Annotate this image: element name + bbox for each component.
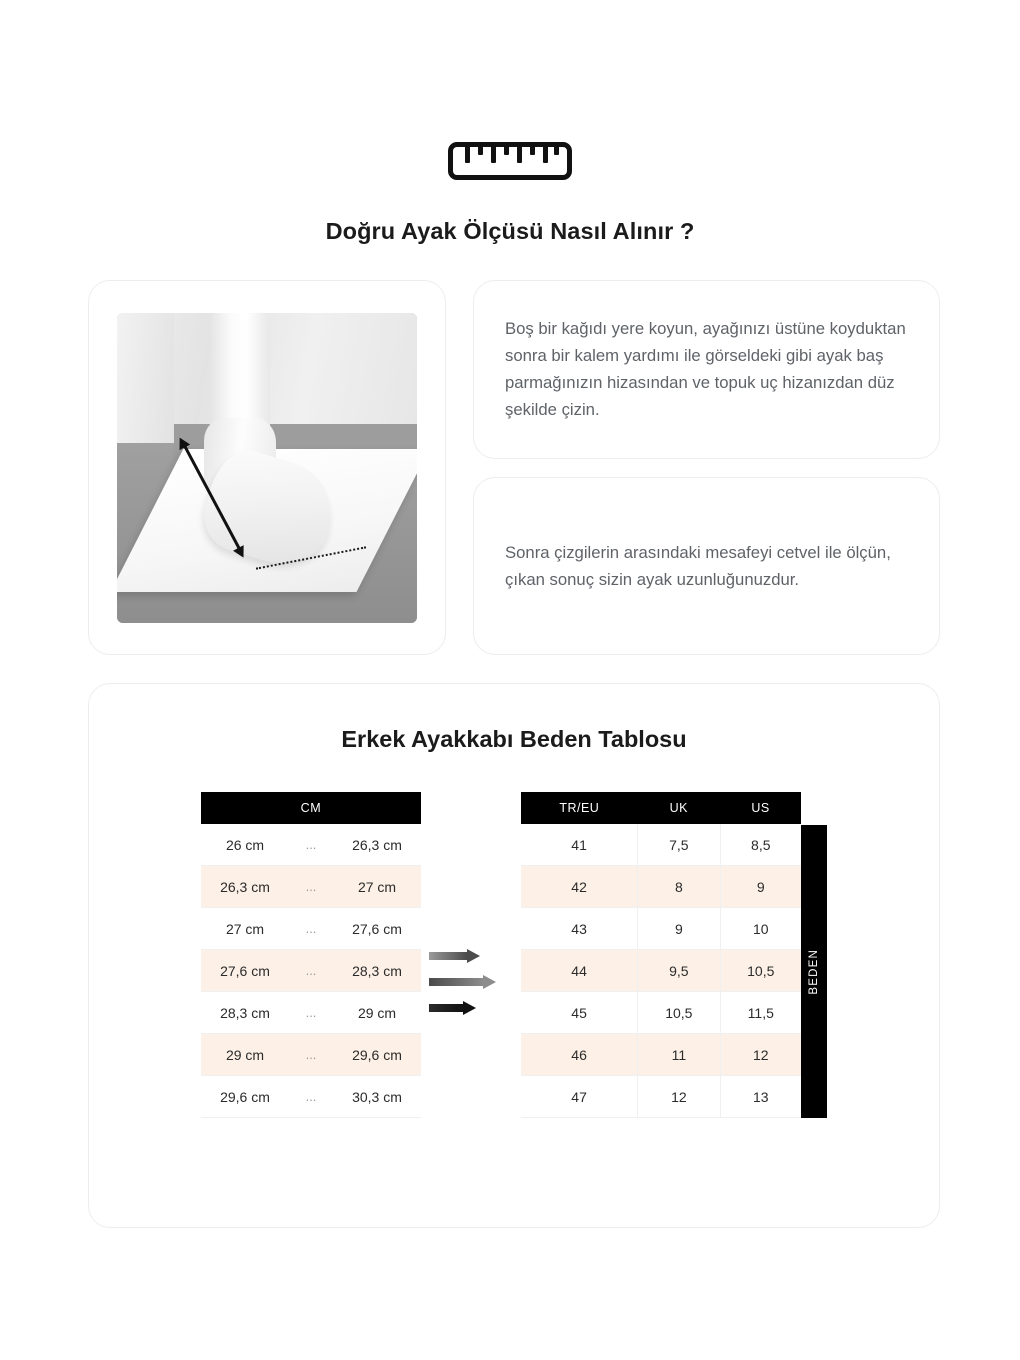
cm-separator: ... bbox=[289, 1034, 333, 1076]
cm-separator: ... bbox=[289, 866, 333, 908]
table-row: 28,3 cm ... 29 cm bbox=[201, 992, 421, 1034]
instruction-text-2: Sonra çizgilerin arasındaki mesafeyi cet… bbox=[505, 539, 911, 593]
beden-side-label-text: BEDEN bbox=[808, 949, 820, 995]
cm-to: 26,3 cm bbox=[333, 824, 421, 866]
cell-treu: 47 bbox=[521, 1076, 638, 1118]
cell-treu: 42 bbox=[521, 866, 638, 908]
cell-uk: 9,5 bbox=[638, 950, 720, 992]
cm-separator: ... bbox=[289, 908, 333, 950]
instruction-card-1: Boş bir kağıdı yere koyun, ayağınızı üst… bbox=[473, 280, 940, 459]
cell-treu: 46 bbox=[521, 1034, 638, 1076]
table-row: 29,6 cm ... 30,3 cm bbox=[201, 1076, 421, 1118]
cm-to: 29 cm bbox=[333, 992, 421, 1034]
cm-from: 29 cm bbox=[201, 1034, 289, 1076]
cell-us: 8,5 bbox=[720, 824, 801, 866]
cm-table: CM 26 cm ... 26,3 cm 26,3 cm ... 27 cm bbox=[201, 792, 421, 1118]
cm-from: 28,3 cm bbox=[201, 992, 289, 1034]
cm-separator: ... bbox=[289, 824, 333, 866]
cell-uk: 8 bbox=[638, 866, 720, 908]
page-title: Doğru Ayak Ölçüsü Nasıl Alınır ? bbox=[0, 218, 1020, 245]
cm-to: 29,6 cm bbox=[333, 1034, 421, 1076]
cell-us: 10,5 bbox=[720, 950, 801, 992]
instruction-text-1: Boş bir kağıdı yere koyun, ayağınızı üst… bbox=[505, 315, 911, 423]
size-col-us: US bbox=[720, 792, 801, 824]
foot-measure-photo-card bbox=[88, 280, 446, 655]
cm-from: 27,6 cm bbox=[201, 950, 289, 992]
instruction-card-2: Sonra çizgilerin arasındaki mesafeyi cet… bbox=[473, 477, 940, 656]
size-chart-card: Erkek Ayakkabı Beden Tablosu CM 26 cm ..… bbox=[88, 683, 940, 1228]
cell-us: 9 bbox=[720, 866, 801, 908]
table-row: 45 10,5 11,5 bbox=[521, 992, 801, 1034]
cm-table-header-row: CM bbox=[201, 792, 421, 824]
cell-uk: 11 bbox=[638, 1034, 720, 1076]
cm-separator: ... bbox=[289, 992, 333, 1034]
cell-treu: 45 bbox=[521, 992, 638, 1034]
table-row: 26 cm ... 26,3 cm bbox=[201, 824, 421, 866]
table-row: 26,3 cm ... 27 cm bbox=[201, 866, 421, 908]
instruction-text-column: Boş bir kağıdı yere koyun, ayağınızı üst… bbox=[473, 280, 940, 655]
cell-treu: 41 bbox=[521, 824, 638, 866]
foot-measure-photo bbox=[117, 313, 417, 623]
size-table-header-row: TR/EU UK US bbox=[521, 792, 801, 824]
table-row: 43 9 10 bbox=[521, 908, 801, 950]
table-row: 27,6 cm ... 28,3 cm bbox=[201, 950, 421, 992]
table-row: 47 12 13 bbox=[521, 1076, 801, 1118]
cm-to: 27 cm bbox=[333, 866, 421, 908]
cell-us: 12 bbox=[720, 1034, 801, 1076]
instructions-row: Boş bir kağıdı yere koyun, ayağınızı üst… bbox=[88, 280, 940, 655]
size-chart-title: Erkek Ayakkabı Beden Tablosu bbox=[89, 726, 939, 753]
cm-to: 28,3 cm bbox=[333, 950, 421, 992]
size-table: TR/EU UK US 41 7,5 8,5 42 8 bbox=[521, 792, 801, 1118]
cm-separator: ... bbox=[289, 950, 333, 992]
cm-to: 30,3 cm bbox=[333, 1076, 421, 1118]
table-row: 44 9,5 10,5 bbox=[521, 950, 801, 992]
cell-us: 11,5 bbox=[720, 992, 801, 1034]
cm-table-header-cell: CM bbox=[201, 792, 421, 824]
size-guide-page: Doğru Ayak Ölçüsü Nasıl Alınır ? Boş bir… bbox=[0, 0, 1020, 1360]
table-row: 27 cm ... 27,6 cm bbox=[201, 908, 421, 950]
cell-us: 10 bbox=[720, 908, 801, 950]
cell-uk: 9 bbox=[638, 908, 720, 950]
cell-uk: 12 bbox=[638, 1076, 720, 1118]
table-row: 46 11 12 bbox=[521, 1034, 801, 1076]
cell-treu: 43 bbox=[521, 908, 638, 950]
cm-from: 27 cm bbox=[201, 908, 289, 950]
ruler-icon-wrap bbox=[0, 142, 1020, 180]
cell-uk: 10,5 bbox=[638, 992, 720, 1034]
size-col-uk: UK bbox=[638, 792, 720, 824]
cm-from: 26 cm bbox=[201, 824, 289, 866]
table-row: 29 cm ... 29,6 cm bbox=[201, 1034, 421, 1076]
cell-uk: 7,5 bbox=[638, 824, 720, 866]
cm-separator: ... bbox=[289, 1076, 333, 1118]
cm-from: 26,3 cm bbox=[201, 866, 289, 908]
cm-to: 27,6 cm bbox=[333, 908, 421, 950]
size-table-wrap: TR/EU UK US 41 7,5 8,5 42 8 bbox=[521, 792, 827, 1118]
size-col-treu: TR/EU bbox=[521, 792, 638, 824]
table-row: 42 8 9 bbox=[521, 866, 801, 908]
size-tables-row: CM 26 cm ... 26,3 cm 26,3 cm ... 27 cm bbox=[89, 792, 939, 1118]
cm-from: 29,6 cm bbox=[201, 1076, 289, 1118]
conversion-arrows bbox=[421, 949, 521, 1016]
cell-us: 13 bbox=[720, 1076, 801, 1118]
beden-side-label: BEDEN bbox=[801, 825, 827, 1118]
cell-treu: 44 bbox=[521, 950, 638, 992]
table-row: 41 7,5 8,5 bbox=[521, 824, 801, 866]
ruler-icon bbox=[448, 142, 572, 180]
